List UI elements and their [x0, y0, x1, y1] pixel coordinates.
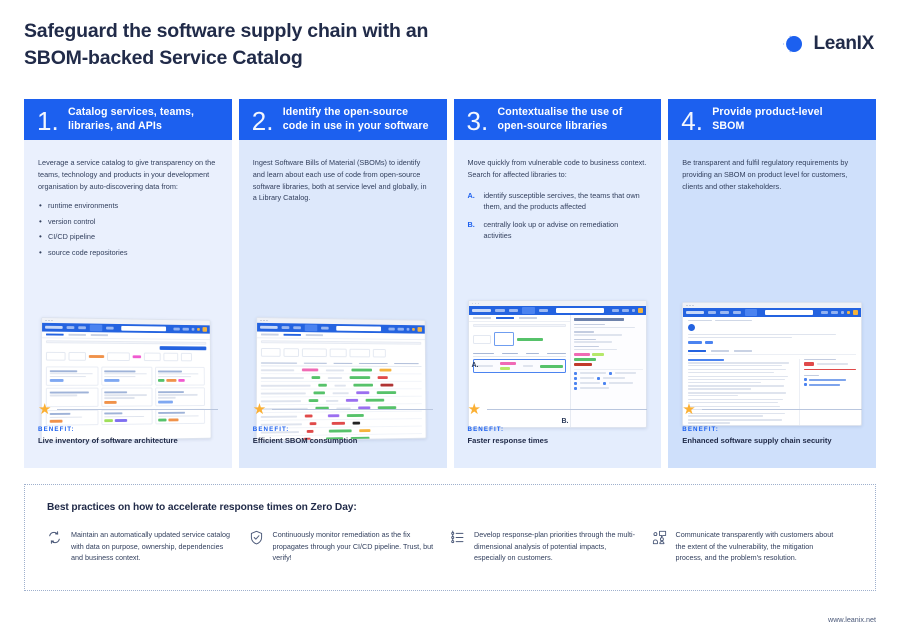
benefit-text-3: Faster response times: [468, 436, 648, 446]
list-item: source code repositories: [38, 248, 218, 259]
star-icon: ★: [38, 402, 51, 417]
step-number-2: 2.: [252, 106, 274, 134]
practice-item-2: Continuously monitor remediation as the …: [249, 529, 451, 564]
benefit-label-4: BENEFIT:: [682, 426, 862, 433]
steps-columns: 1. Catalog services, teams, libraries, a…: [24, 99, 876, 468]
list-marker: A.: [468, 190, 475, 201]
step-number-3: 3.: [467, 106, 489, 134]
footer-url[interactable]: www.leanix.net: [828, 615, 876, 624]
benefit-label-1: BENEFIT:: [38, 426, 218, 433]
step-title-2-line1: Identify the open-source: [283, 106, 408, 118]
star-icon: ★: [682, 402, 695, 417]
brand-logo: LeanIX: [779, 31, 875, 57]
benefit-block-1: ★ BENEFIT: Live inventory of software ar…: [38, 402, 218, 446]
step-description-2: Ingest Software Bills of Material (SBOMs…: [253, 157, 433, 204]
step-header-4: 4. Provide product-level SBOM: [668, 99, 876, 140]
practice-item-1: Maintain an automatically updated servic…: [47, 529, 249, 564]
benefit-label-3: BENEFIT:: [468, 426, 648, 433]
step-number-4: 4.: [681, 106, 703, 134]
page-title: Safeguard the software supply chain with…: [24, 18, 624, 72]
step-title-3: Contextualise the use of open-source lib…: [498, 106, 623, 134]
step-title-1-line2: libraries, and APIs: [68, 120, 162, 132]
step-title-3-line2: open-source libraries: [498, 120, 608, 132]
practice-text-2: Continuously monitor remediation as the …: [273, 529, 435, 564]
list-item: version control: [38, 217, 218, 228]
divider: [702, 409, 862, 410]
brand-name: LeanIX: [814, 33, 875, 55]
step-title-4-line2: SBOM: [712, 120, 744, 132]
step-title-1-line1: Catalog services, teams,: [68, 106, 194, 118]
list-item: runtime environments: [38, 201, 218, 212]
step-title-4-line1: Provide product-level: [712, 106, 822, 118]
step-description-4: Be transparent and fulfil regulatory req…: [682, 157, 862, 192]
step-title-1: Catalog services, teams, libraries, and …: [68, 106, 194, 134]
step-column-4: 4. Provide product-level SBOM Be transpa…: [668, 99, 876, 468]
list-marker: B.: [468, 219, 475, 230]
practice-text-1: Maintain an automatically updated servic…: [71, 529, 233, 564]
step-description-3: Move quickly from vulnerable code to bus…: [468, 157, 648, 181]
step-title-3-line1: Contextualise the use of: [498, 106, 623, 118]
list-item: B.centrally look up or advise on remedia…: [468, 219, 648, 241]
divider: [272, 409, 432, 410]
infographic-page: Safeguard the software supply chain with…: [0, 0, 900, 637]
practice-text-3: Develop response-plan priorities through…: [474, 529, 636, 564]
benefit-block-3: ★ BENEFIT: Faster response times: [468, 402, 648, 446]
benefit-text-1: Live inventory of software architecture: [38, 436, 218, 446]
list-item: A.identify susceptible sercives, the tea…: [468, 190, 648, 212]
refresh-cycle-icon: [47, 529, 62, 564]
step-header-3: 3. Contextualise the use of open-source …: [454, 99, 662, 140]
practice-item-3: Develop response-plan priorities through…: [450, 529, 652, 564]
best-practices-list: Maintain an automatically updated servic…: [47, 529, 853, 564]
callout-a-label: A.: [472, 362, 479, 369]
practice-text-4: Communicate transparently with customers…: [676, 529, 838, 564]
star-icon: ★: [253, 402, 266, 417]
step-number-1: 1.: [37, 106, 59, 134]
list-item: CI/CD pipeline: [38, 232, 218, 243]
benefit-block-2: ★ BENEFIT: Efficient SBOM consumption: [253, 402, 433, 446]
practice-item-4: Communicate transparently with customers…: [652, 529, 854, 564]
divider: [487, 409, 647, 410]
leanix-logo-icon: [779, 31, 805, 57]
people-message-icon: [652, 529, 667, 564]
step-title-2: Identify the open-source code in use in …: [283, 106, 429, 134]
benefit-text-4: Enhanced software supply chain security: [682, 436, 862, 446]
step-title-4: Provide product-level SBOM: [712, 106, 822, 134]
step-column-1: 1. Catalog services, teams, libraries, a…: [24, 99, 232, 468]
step-header-2: 2. Identify the open-source code in use …: [239, 99, 447, 140]
page-header: Safeguard the software supply chain with…: [24, 18, 876, 86]
shield-check-icon: [249, 529, 264, 564]
step-column-3: 3. Contextualise the use of open-source …: [454, 99, 662, 468]
step-alpha-list-3: A.identify susceptible sercives, the tea…: [468, 190, 648, 241]
star-icon: ★: [468, 402, 481, 417]
page-title-line2: SBOM-backed Service Catalog: [24, 45, 624, 72]
step-title-2-line2: code in use in your software: [283, 120, 429, 132]
benefit-label-2: BENEFIT:: [253, 426, 433, 433]
page-title-line1: Safeguard the software supply chain with…: [24, 18, 624, 45]
list-item-text: centrally look up or advise on remediati…: [484, 220, 619, 240]
best-practices-panel: Best practices on how to accelerate resp…: [24, 484, 876, 591]
best-practices-title: Best practices on how to accelerate resp…: [47, 502, 853, 513]
priority-list-icon: [450, 529, 465, 564]
list-item-text: identify susceptible sercives, the teams…: [484, 191, 640, 211]
divider: [57, 409, 217, 410]
step-bullets-1: runtime environments version control CI/…: [38, 201, 218, 258]
step-header-1: 1. Catalog services, teams, libraries, a…: [24, 99, 232, 140]
step-description-1: Leverage a service catalog to give trans…: [38, 157, 218, 192]
step-column-2: 2. Identify the open-source code in use …: [239, 99, 447, 468]
benefit-block-4: ★ BENEFIT: Enhanced software supply chai…: [682, 402, 862, 446]
benefit-text-2: Efficient SBOM consumption: [253, 436, 433, 446]
